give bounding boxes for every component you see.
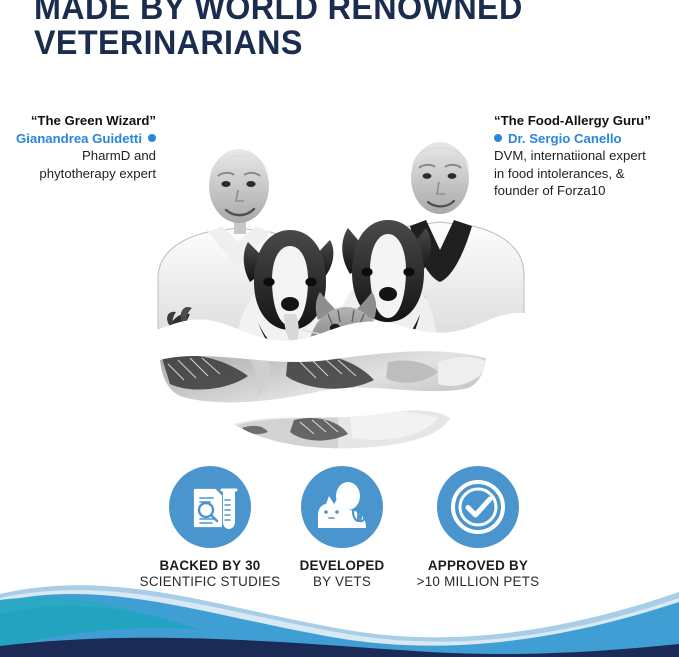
badge-circle [301, 466, 383, 548]
credit-left-name: Gianandrea Guidetti [16, 131, 142, 146]
hero-illustration [138, 82, 542, 357]
credit-right-description: DVM, internatiional expert in food intol… [494, 147, 679, 200]
check-circle-icon [437, 466, 519, 548]
credit-left: “The Green Wizard” Gianandrea Guidetti P… [4, 112, 156, 182]
credit-right: “The Food-Allergy Guru” Dr. Sergio Canel… [494, 112, 679, 200]
wave-decoration [0, 552, 679, 657]
page-title: MADE BY WORLD RENOWNED VETERINARIANS [34, 0, 623, 61]
credit-right-quote: “The Food-Allergy Guru” [494, 112, 679, 130]
strips-illustration [138, 340, 542, 455]
blue-dot-icon [148, 134, 156, 142]
vet-with-dog-icon [301, 466, 383, 548]
promo-banner: MADE BY WORLD RENOWNED VETERINARIANS [0, 0, 679, 657]
test-tube [222, 490, 236, 528]
badge-circle [169, 466, 251, 548]
credit-left-quote: “The Green Wizard” [4, 112, 156, 130]
credit-left-name-row: Gianandrea Guidetti [4, 130, 156, 148]
blue-dot-icon [494, 134, 502, 142]
document-magnifier-testtube-icon [169, 466, 251, 548]
credit-right-name-row: Dr. Sergio Canello [494, 130, 679, 148]
credit-right-name: Dr. Sergio Canello [508, 131, 622, 146]
hero-photo [138, 82, 542, 357]
credit-left-description: PharmD and phytotherapy expert [4, 147, 156, 182]
badge-circle [437, 466, 519, 548]
torn-photo-strips [138, 340, 542, 455]
wave-illustration [0, 552, 679, 657]
